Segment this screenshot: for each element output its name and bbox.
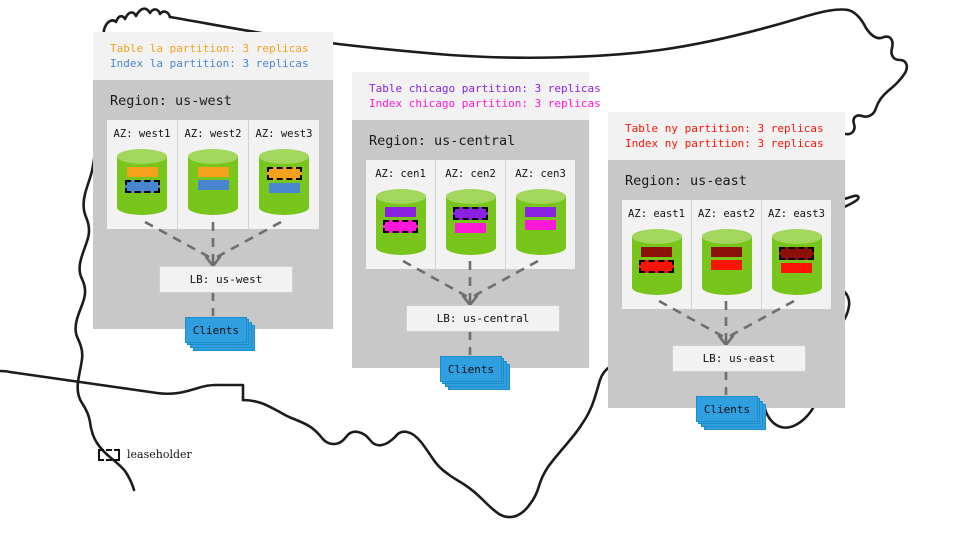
region-us-east: Table ny partition: 3 replicas Index ny …: [608, 112, 845, 408]
diagram-canvas: Table la partition: 3 replicas Index la …: [0, 0, 960, 540]
clients-front[interactable]: Clients: [185, 317, 247, 343]
table-replica-bar: [641, 247, 672, 257]
table-replica-bar: [385, 207, 416, 217]
az-cen3[interactable]: AZ: cen3: [505, 160, 575, 269]
lb-us-west[interactable]: LB: us-west: [159, 266, 293, 293]
clients-us-west-label: Clients: [193, 324, 239, 337]
az-east2-label: AZ: east2: [698, 208, 755, 220]
index-replica-bar: [781, 263, 812, 273]
table-replica-bar: [198, 167, 229, 177]
node-cylinder-cen1[interactable]: [376, 189, 426, 255]
node-cylinder-east1[interactable]: [632, 229, 682, 295]
az-west2-label: AZ: west2: [185, 128, 242, 140]
index-replica-bar-leaseholder: [383, 220, 418, 233]
az-cen1-label: AZ: cen1: [375, 168, 426, 180]
az-east1[interactable]: AZ: east1: [622, 200, 691, 309]
az-cen3-label: AZ: cen3: [515, 168, 566, 180]
az-west2[interactable]: AZ: west2: [177, 120, 248, 229]
az-west1-label: AZ: west1: [114, 128, 171, 140]
table-replica-bar-leaseholder: [779, 247, 814, 260]
lb-us-central[interactable]: LB: us-central: [406, 305, 560, 332]
node-cylinder-east3[interactable]: [772, 229, 822, 295]
cylinder-top: [446, 189, 496, 204]
index-replica-bar: [198, 180, 229, 190]
lb-us-west-label: LB: us-west: [190, 273, 263, 286]
table-replica-bar-leaseholder: [453, 207, 488, 220]
us-west-az-row: AZ: west1 AZ: west2: [107, 120, 319, 229]
node-cylinder-cen2[interactable]: [446, 189, 496, 255]
cylinder-top: [188, 149, 238, 164]
index-replica-bar: [711, 260, 742, 270]
lb-us-east[interactable]: LB: us-east: [672, 345, 806, 372]
clients-us-central[interactable]: Clients: [440, 356, 502, 382]
cylinder-top: [376, 189, 426, 204]
table-replica-bar: [525, 207, 556, 217]
az-cen1[interactable]: AZ: cen1: [366, 160, 435, 269]
legend-leaseholder: leaseholder: [98, 448, 192, 461]
us-east-az-row: AZ: east1 AZ: east2: [622, 200, 831, 309]
table-partition-line: Table chicago partition: 3 replicas: [369, 81, 573, 96]
az-west3-label: AZ: west3: [256, 128, 313, 140]
us-central-partition-header: Table chicago partition: 3 replicas Inde…: [352, 72, 589, 120]
clients-front[interactable]: Clients: [696, 396, 758, 422]
az-cen2-label: AZ: cen2: [445, 168, 496, 180]
table-replica-bar-leaseholder: [267, 167, 302, 180]
table-partition-line: Table la partition: 3 replicas: [110, 41, 317, 56]
table-partition-line: Table ny partition: 3 replicas: [625, 121, 829, 136]
az-west3[interactable]: AZ: west3: [248, 120, 319, 229]
cylinder-top: [259, 149, 309, 164]
lb-us-east-label: LB: us-east: [703, 352, 776, 365]
index-partition-line: Index la partition: 3 replicas: [110, 56, 317, 71]
us-central-az-row: AZ: cen1 AZ: cen2: [366, 160, 575, 269]
us-central-region-title: Region: us-central: [352, 120, 589, 160]
cylinder-top: [632, 229, 682, 244]
node-cylinder-west1[interactable]: [117, 149, 167, 215]
legend-label: leaseholder: [127, 448, 192, 461]
az-east2[interactable]: AZ: east2: [691, 200, 761, 309]
clients-us-west[interactable]: Clients: [185, 317, 247, 343]
node-cylinder-cen3[interactable]: [516, 189, 566, 255]
region-us-west: Table la partition: 3 replicas Index la …: [93, 32, 333, 329]
index-partition-line: Index ny partition: 3 replicas: [625, 136, 829, 151]
table-replica-bar: [127, 167, 158, 177]
index-replica-bar: [525, 220, 556, 230]
us-east-partition-header: Table ny partition: 3 replicas Index ny …: [608, 112, 845, 160]
leaseholder-dashed-rect-icon: [98, 449, 120, 461]
index-replica-bar: [455, 223, 486, 233]
us-west-partition-header: Table la partition: 3 replicas Index la …: [93, 32, 333, 80]
index-replica-bar-leaseholder: [639, 260, 674, 273]
cylinder-top: [702, 229, 752, 244]
clients-us-central-label: Clients: [448, 363, 494, 376]
index-partition-line: Index chicago partition: 3 replicas: [369, 96, 573, 111]
region-us-central: Table chicago partition: 3 replicas Inde…: [352, 72, 589, 368]
index-replica-bar: [269, 183, 300, 193]
clients-us-east[interactable]: Clients: [696, 396, 758, 422]
node-cylinder-west2[interactable]: [188, 149, 238, 215]
node-cylinder-west3[interactable]: [259, 149, 309, 215]
clients-us-east-label: Clients: [704, 403, 750, 416]
us-west-region-title: Region: us-west: [93, 80, 333, 120]
cylinder-top: [772, 229, 822, 244]
cylinder-top: [516, 189, 566, 204]
node-cylinder-east2[interactable]: [702, 229, 752, 295]
lb-us-central-label: LB: us-central: [437, 312, 530, 325]
clients-front[interactable]: Clients: [440, 356, 502, 382]
index-replica-bar-leaseholder: [125, 180, 160, 193]
table-replica-bar: [711, 247, 742, 257]
az-east3[interactable]: AZ: east3: [761, 200, 831, 309]
az-east3-label: AZ: east3: [768, 208, 825, 220]
az-west1[interactable]: AZ: west1: [107, 120, 177, 229]
az-east1-label: AZ: east1: [628, 208, 685, 220]
cylinder-top: [117, 149, 167, 164]
us-east-region-title: Region: us-east: [608, 160, 845, 200]
az-cen2[interactable]: AZ: cen2: [435, 160, 505, 269]
